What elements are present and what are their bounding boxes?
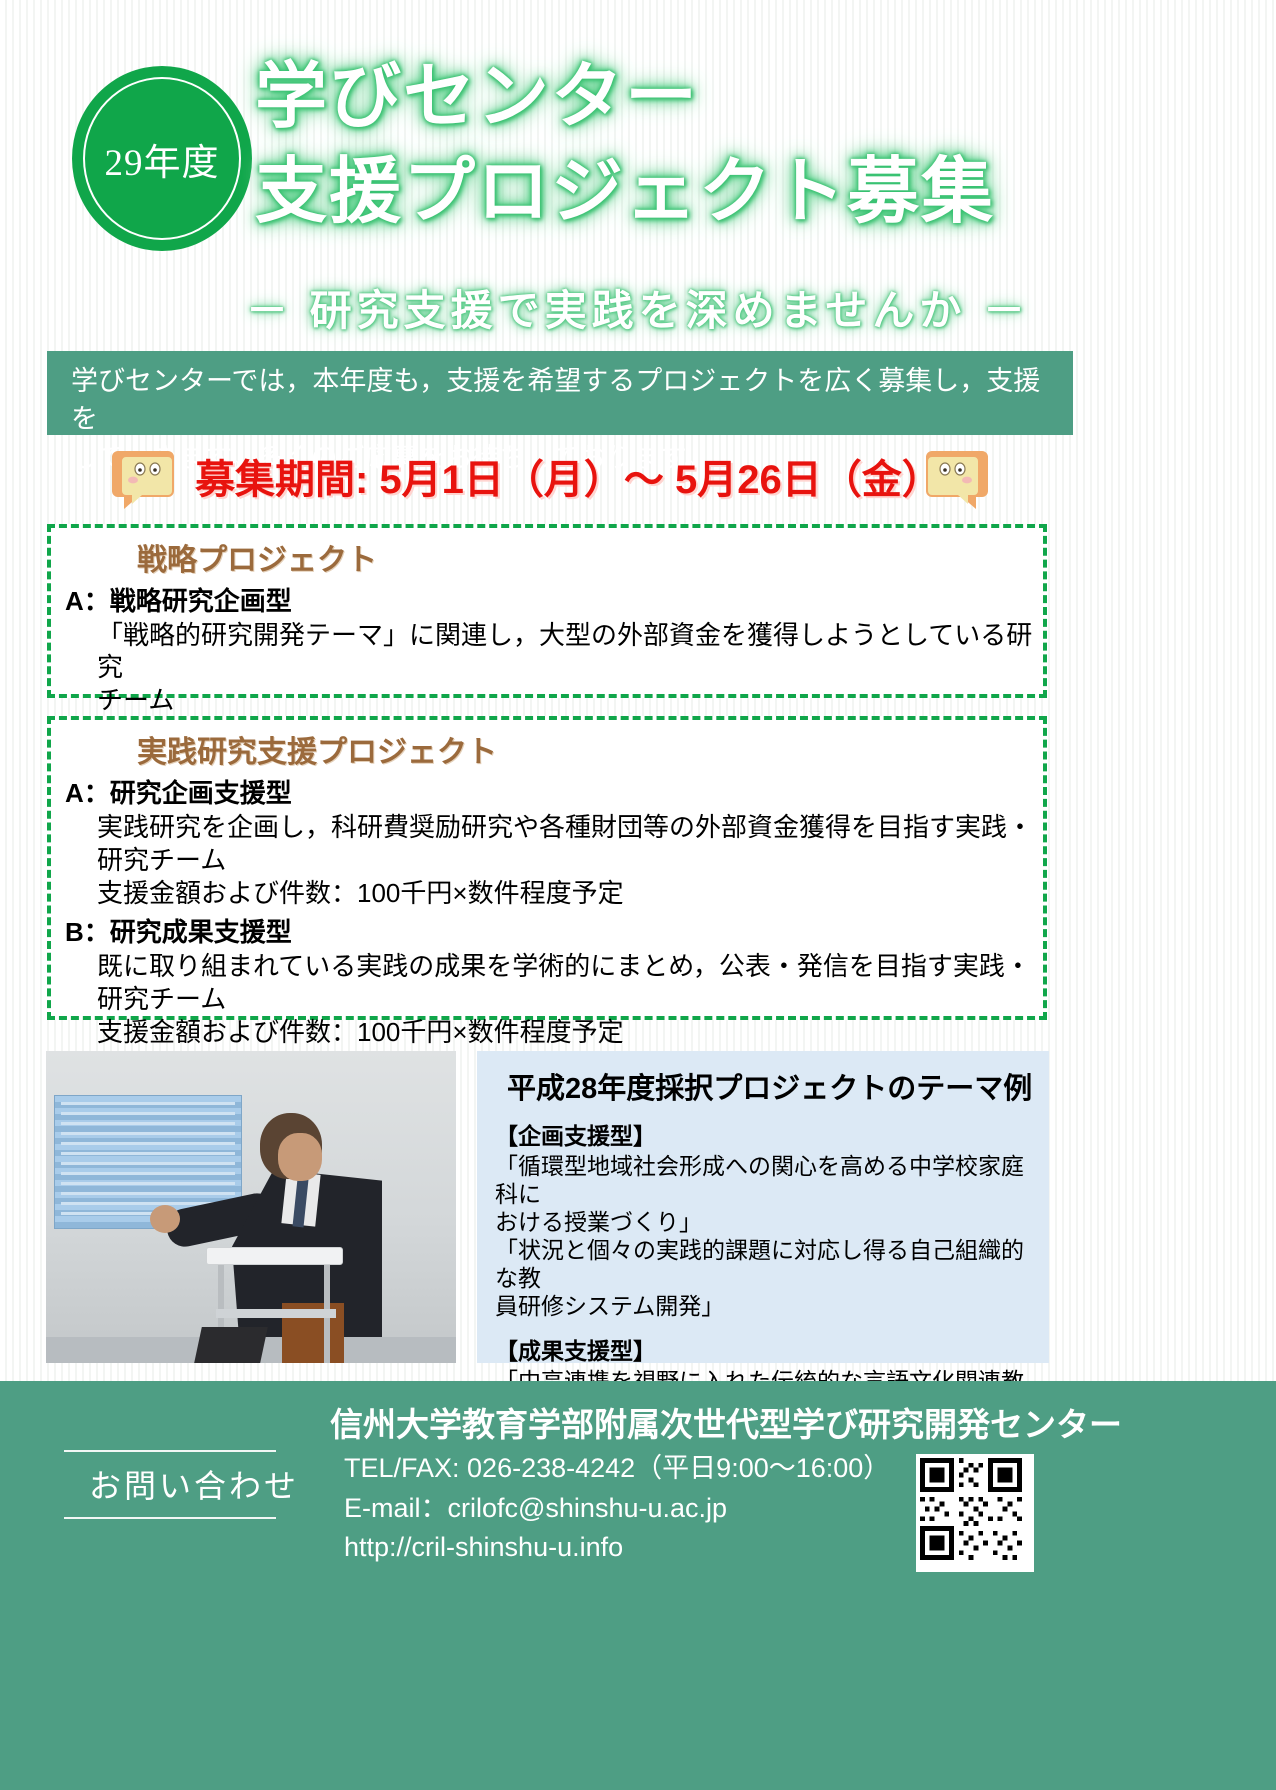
intro-line-1: 学びセンターでは，本年度も，支援を希望するプロジェクトを広く募集し，支援を xyxy=(71,362,1053,439)
poster-header: 29年度 学びセンター 支援プロジェクト募集 － 研究支援で実践を深めませんか … xyxy=(0,0,1276,345)
item-body-line: 研究チーム xyxy=(97,844,1043,876)
photo-podium-top xyxy=(206,1247,343,1265)
contact-tel: TEL/FAX: 026-238-4242（平日9:00～16:00） xyxy=(344,1449,890,1489)
title-line-1: 学びセンター xyxy=(255,50,1255,145)
item-body-line: 研究チーム xyxy=(97,983,1043,1015)
item-label: B：研究成果支援型 xyxy=(65,912,1043,949)
photo-hand xyxy=(150,1205,180,1233)
title-line-2: 支援プロジェクト募集 xyxy=(255,145,1255,240)
poster-title: 学びセンター 支援プロジェクト募集 xyxy=(255,50,1255,240)
item-label: A：研究企画支援型 xyxy=(65,773,1043,810)
examples-line: 「循環型地域社会形成への関心を高める中学校家庭科に xyxy=(495,1152,1035,1208)
examples-title: 平成28年度採択プロジェクトのテーマ例 xyxy=(507,1065,1035,1107)
examples-group-head: 【成果支援型】 xyxy=(495,1332,1035,1366)
strategy-project-box: 戦略プロジェクト A：戦略研究企画型 「戦略的研究開発テーマ」に関連し，大型の外… xyxy=(47,524,1047,698)
poster-footer: 信州大学教育学部附属次世代型学び研究開発センター お問い合わせ TEL/FAX:… xyxy=(0,1381,1276,1790)
box-heading: 戦略プロジェクト xyxy=(137,535,1043,579)
item-body-line: 支援金額および件数：100千円×数件程度予定 xyxy=(97,877,1043,909)
item-label: A：戦略研究企画型 xyxy=(65,581,1043,618)
examples-group-head: 【企画支援型】 xyxy=(495,1117,1035,1151)
box-heading: 実践研究支援プロジェクト xyxy=(137,727,1043,771)
application-period-text: 募集期間: 5月1日（月）～ 5月26日（金） xyxy=(195,447,935,505)
contact-url[interactable]: http://cril-shinshu-u.info xyxy=(344,1528,890,1568)
year-badge-label: 29年度 xyxy=(72,132,252,186)
organization-name: 信州大学教育学部附属次世代型学び研究開発センター xyxy=(330,1398,1122,1446)
item-body-line: 「戦略的研究開発テーマ」に関連し，大型の外部資金を獲得しようとしている研究 xyxy=(97,619,1043,683)
divider xyxy=(64,1450,276,1452)
intro-banner: 学びセンターでは，本年度も，支援を希望するプロジェクトを広く募集し，支援を して… xyxy=(47,351,1073,435)
poster-subtitle: － 研究支援で実践を深めませんか － xyxy=(0,277,1276,338)
item-body-line: 実践研究を企画し，科研費奨励研究や各種財団等の外部資金獲得を目指す実践・ xyxy=(97,811,1043,843)
contact-email[interactable]: E-mail：crilofc@shinshu-u.ac.jp xyxy=(344,1489,890,1529)
divider xyxy=(64,1517,276,1519)
photo-podium-shelf xyxy=(216,1309,336,1318)
item-body-line: 既に取り組まれている実践の成果を学術的にまとめ，公表・発信を目指す実践・ xyxy=(97,950,1043,982)
examples-line: 「状況と個々の実践的課題に対応し得る自己組織的な教 xyxy=(495,1236,1035,1292)
examples-spacer xyxy=(495,1320,1035,1332)
speech-bubble-icon xyxy=(110,447,176,511)
adopted-project-examples-panel: 平成28年度採択プロジェクトのテーマ例 【企画支援型】 「循環型地域社会形成への… xyxy=(477,1051,1049,1363)
year-badge: 29年度 xyxy=(72,66,252,251)
examples-line: 員研修システム開発」 xyxy=(495,1292,1035,1320)
application-period-row: 募集期間: 5月1日（月）～ 5月26日（金） xyxy=(47,443,1073,513)
contact-details: TEL/FAX: 026-238-4242（平日9:00～16:00） E-ma… xyxy=(344,1449,890,1568)
item-body-line: 支援金額および件数：100千円×数件程度予定 xyxy=(97,1016,1043,1048)
photo-laptop xyxy=(194,1327,268,1363)
photo-face xyxy=(278,1133,322,1181)
lecture-photo xyxy=(46,1051,456,1363)
practice-research-support-box: 実践研究支援プロジェクト A：研究企画支援型 実践研究を企画し，科研費奨励研究や… xyxy=(47,716,1047,1020)
examples-line: おける授業づくり」 xyxy=(495,1208,1035,1236)
contact-label: お問い合わせ xyxy=(74,1461,314,1507)
qr-code[interactable] xyxy=(916,1454,1034,1572)
item-body-line: チーム xyxy=(97,684,1043,716)
poster-page: 29年度 学びセンター 支援プロジェクト募集 － 研究支援で実践を深めませんか … xyxy=(0,0,1276,1790)
speech-bubble-icon-mirror xyxy=(924,447,990,511)
